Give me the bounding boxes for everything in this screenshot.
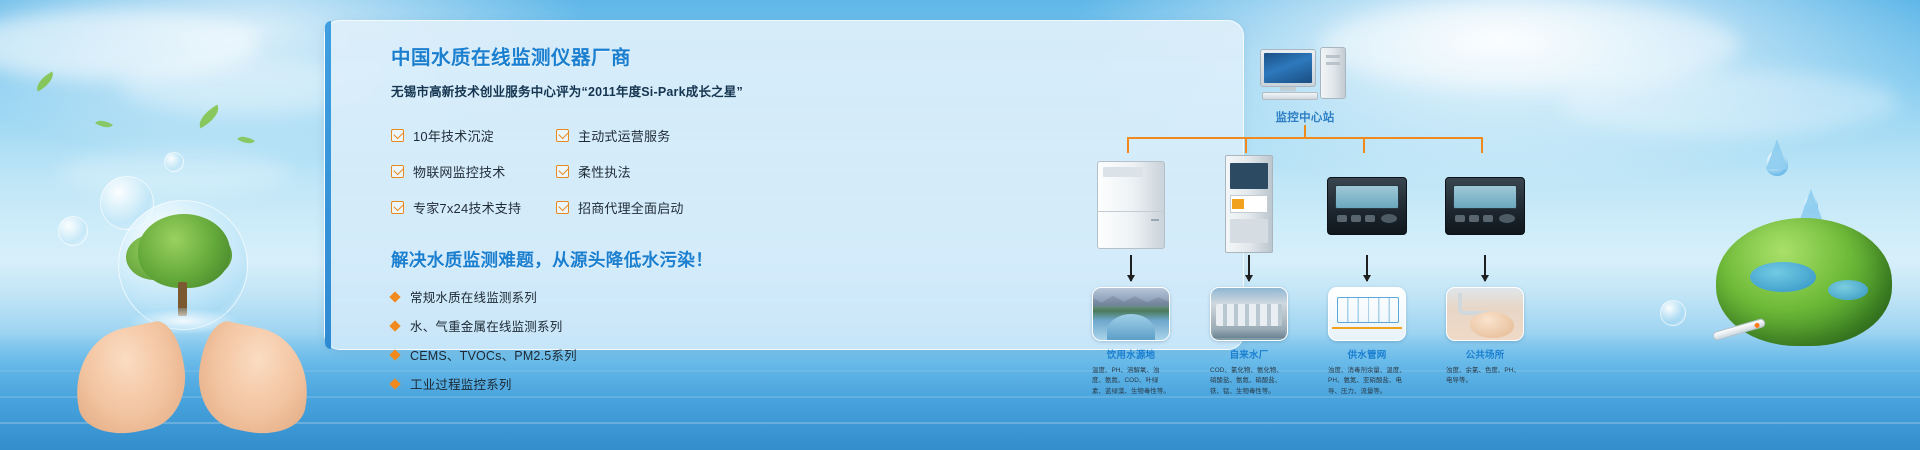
flow-arrow-icon <box>1248 255 1250 281</box>
checkbox-icon <box>391 165 404 178</box>
scene-description: 浊度、余氯、色度、PH、电导等。 <box>1446 366 1524 387</box>
list-item[interactable]: CEMS、TVOCs、PM2.5系列 <box>391 345 721 364</box>
leaf-decoration <box>95 116 113 131</box>
tree-canopy-shape <box>176 232 232 278</box>
water-wave-decoration <box>0 396 1920 398</box>
bubble-decoration <box>58 216 88 246</box>
feature-label: 招商代理全面启动 <box>578 198 684 217</box>
scene-caption: 供水管网 <box>1328 347 1406 361</box>
keyboard-shape <box>1262 92 1318 100</box>
checkbox-icon <box>391 129 404 142</box>
feature-item[interactable]: 柔性执法 <box>556 162 721 181</box>
water-wave-decoration <box>0 422 1920 424</box>
device-panel-controller-icon <box>1321 153 1413 253</box>
cloud-decoration <box>0 10 260 80</box>
section-title: 解决水质监测难题，从源头降低水污染！ <box>391 247 721 272</box>
earth-water-shape <box>1828 280 1868 300</box>
hand-washing-tap-image <box>1446 287 1524 341</box>
cloud-decoration <box>60 150 290 196</box>
feature-label: 10年技术沉淀 <box>413 126 494 145</box>
banner-text-column: 中国水质在线监测仪器厂商 无锡市高新技术创业服务中心评为“2011年度Si-Pa… <box>391 47 721 393</box>
list-item-label: CEMS、TVOCs、PM2.5系列 <box>410 345 577 364</box>
diamond-bullet-icon <box>389 378 400 389</box>
connector-line <box>1481 137 1483 153</box>
water-wave-decoration <box>0 370 1920 372</box>
checkbox-icon <box>556 165 569 178</box>
monitor-screen-shape <box>1260 49 1316 87</box>
connector-bus-line <box>1127 137 1483 139</box>
list-item[interactable]: 工业过程监控系列 <box>391 374 721 393</box>
tree-canopy-shape <box>126 234 184 280</box>
leaf-decoration <box>194 105 223 129</box>
scene-caption: 自来水厂 <box>1210 347 1288 361</box>
feature-label: 专家7x24技术支持 <box>413 198 521 217</box>
sensor-probe-icon <box>1712 318 1766 342</box>
list-item-label: 常规水质在线监测系列 <box>410 287 537 306</box>
diamond-bullet-icon <box>389 349 400 360</box>
bubble-decoration <box>100 176 154 230</box>
cloud-decoration <box>1560 70 1900 136</box>
page-subtitle: 无锡市高新技术创业服务中心评为“2011年度Si-Park成长之星” <box>391 81 721 100</box>
flow-arrow-icon <box>1484 255 1486 281</box>
feature-item[interactable]: 物联网监控技术 <box>391 162 556 181</box>
list-item[interactable]: 常规水质在线监测系列 <box>391 287 721 306</box>
device-cabinet-analyzer-icon <box>1085 153 1177 253</box>
diamond-bullet-icon <box>389 320 400 331</box>
scene-card[interactable]: 饮用水源地 温度、PH、溶解氧、浊度、氨氮、COD、叶绿素、蓝绿藻、生物毒性等。 <box>1092 287 1170 397</box>
water-treatment-plant-image <box>1210 287 1288 341</box>
feature-label: 柔性执法 <box>578 162 631 181</box>
pc-tower-shape <box>1320 47 1346 99</box>
scene-description: COD、氯化物、氨化物、硝酸盐、氨氮、硝酸盐、铁、锰、生物毒性等。 <box>1210 366 1288 397</box>
feature-label: 物联网监控技术 <box>413 162 505 181</box>
banner-panel: 中国水质在线监测仪器厂商 无锡市高新技术创业服务中心评为“2011年度Si-Pa… <box>324 20 1244 350</box>
bubble-decoration <box>1660 300 1686 326</box>
diamond-bullet-icon <box>389 291 400 302</box>
connector-line <box>1363 137 1365 153</box>
feature-label: 主动式运营服务 <box>578 126 670 145</box>
device-rack-analyzer-icon <box>1203 153 1295 253</box>
feature-item[interactable]: 主动式运营服务 <box>556 126 721 145</box>
feature-item[interactable]: 招商代理全面启动 <box>556 198 721 217</box>
desktop-computer-icon <box>1260 49 1350 101</box>
monitoring-system-diagram: 监控中心站 <box>1085 49 1525 375</box>
right-hand-shape <box>188 317 319 442</box>
scene-card[interactable]: 自来水厂 COD、氯化物、氨化物、硝酸盐、氨氮、硝酸盐、铁、锰、生物毒性等。 <box>1210 287 1288 397</box>
feature-item[interactable]: 10年技术沉淀 <box>391 126 556 145</box>
scene-caption: 饮用水源地 <box>1092 347 1170 361</box>
water-ripple-shape <box>128 308 240 334</box>
page-title: 中国水质在线监测仪器厂商 <box>391 47 721 70</box>
river-landscape-image <box>1092 287 1170 341</box>
connector-line <box>1127 137 1129 153</box>
bubble-decoration <box>164 152 184 172</box>
leaf-decoration <box>33 71 58 91</box>
checkbox-icon <box>391 201 404 214</box>
monitor-stand-shape <box>1280 87 1296 91</box>
feature-item[interactable]: 专家7x24技术支持 <box>391 198 556 217</box>
water-droplet-decoration <box>1766 150 1788 176</box>
scene-card[interactable]: 公共场所 浊度、余氯、色度、PH、电导等。 <box>1446 287 1524 387</box>
checkbox-icon <box>556 129 569 142</box>
water-droplet-decoration <box>1804 196 1818 213</box>
scene-description: 温度、PH、溶解氧、浊度、氨氮、COD、叶绿素、蓝绿藻、生物毒性等。 <box>1092 366 1170 397</box>
list-item-label: 水、气重金属在线监测系列 <box>410 316 562 335</box>
left-hand-shape <box>64 317 195 442</box>
tree-canopy-shape <box>138 214 230 288</box>
scene-caption: 公共场所 <box>1446 347 1524 361</box>
connector-line <box>1245 137 1247 153</box>
feature-checklist: 10年技术沉淀 主动式运营服务 物联网监控技术 柔性执法 专家7x24技术支持 … <box>391 126 721 217</box>
checkbox-icon <box>556 201 569 214</box>
green-earth-illustration <box>1716 218 1892 346</box>
connector-line <box>1304 125 1306 137</box>
water-globe-shape <box>118 200 248 330</box>
leaf-decoration <box>237 132 255 147</box>
hands-holding-tree-illustration <box>60 190 320 440</box>
center-station-label: 监控中心站 <box>1235 109 1375 125</box>
tree-trunk-shape <box>178 282 187 316</box>
list-item-label: 工业过程监控系列 <box>410 374 512 393</box>
list-item[interactable]: 水、气重金属在线监测系列 <box>391 316 721 335</box>
earth-sphere-shape <box>1716 218 1892 346</box>
scene-card[interactable]: 供水管网 浊度、消毒剂余量、温度、PH、氨氮、亚硝酸盐、电导、压力、流量等。 <box>1328 287 1406 397</box>
flow-arrow-icon <box>1130 255 1132 281</box>
product-series-list: 常规水质在线监测系列 水、气重金属在线监测系列 CEMS、TVOCs、PM2.5… <box>391 287 721 393</box>
device-panel-controller-icon <box>1439 153 1531 253</box>
flow-arrow-icon <box>1366 255 1368 281</box>
scene-description: 浊度、消毒剂余量、温度、PH、氨氮、亚硝酸盐、电导、压力、流量等。 <box>1328 366 1406 397</box>
pipe-network-diagram-image <box>1328 287 1406 341</box>
earth-water-shape <box>1750 262 1816 292</box>
